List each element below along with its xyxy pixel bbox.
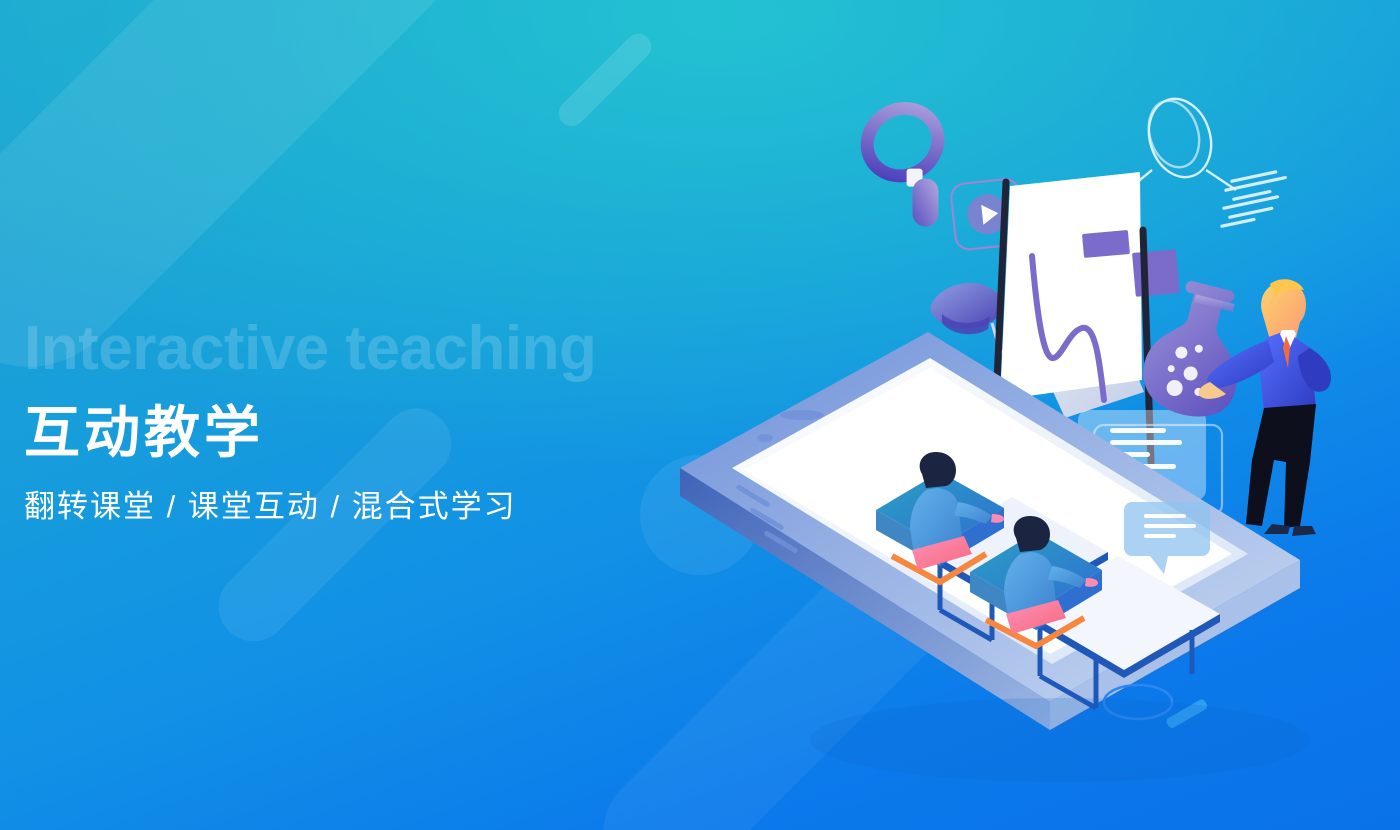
hero-banner: Interactive teaching 互动教学 翻转课堂 / 课堂互动 / … (0, 0, 1400, 830)
magnifier-icon (855, 96, 977, 240)
hero-illustration (640, 70, 1360, 770)
device-shadow (810, 698, 1310, 782)
annotation-note-lines-right (1220, 170, 1287, 228)
flask-icon (1135, 275, 1259, 426)
